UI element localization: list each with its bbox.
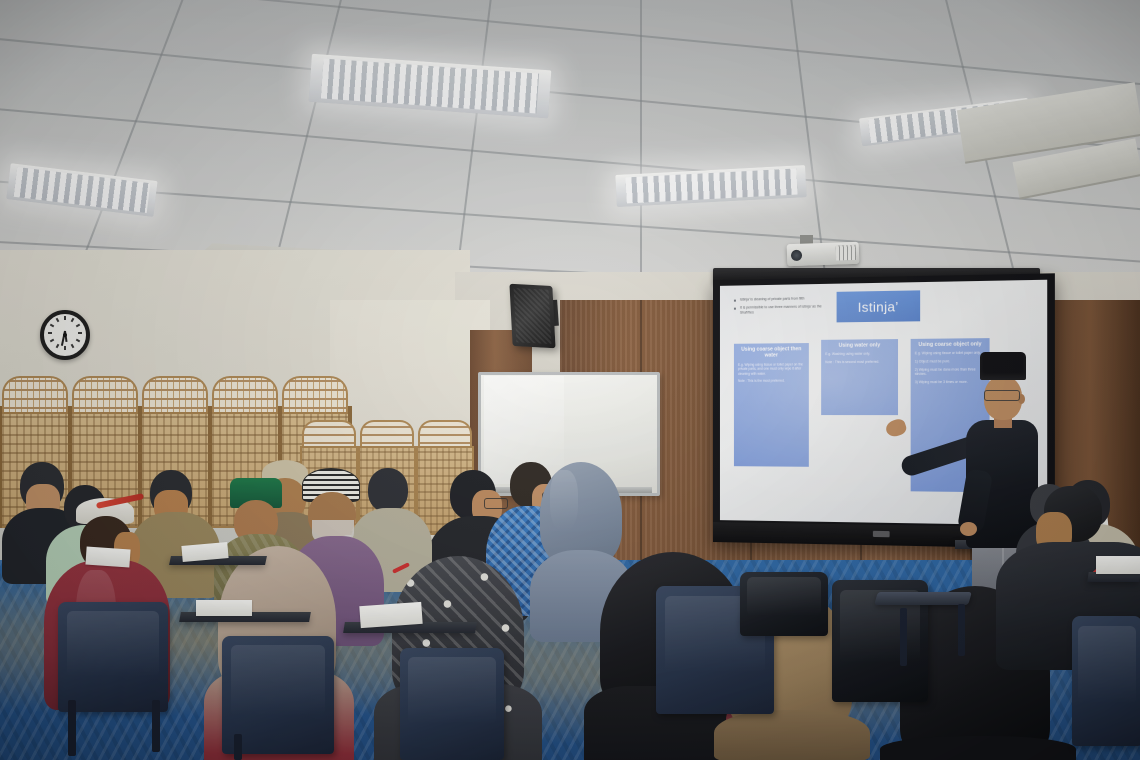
wall-clock	[40, 310, 90, 360]
notes-front	[359, 602, 422, 628]
classroom-photo: Istinja’ is cleaning of private parts fr…	[0, 0, 1140, 760]
notes-far-left	[85, 546, 130, 567]
chair-leg	[68, 700, 76, 756]
chair-leg-5	[958, 604, 965, 656]
pa-speaker	[509, 284, 555, 349]
chair-front-left	[58, 602, 168, 712]
slide-box-1: Using coarse object then water E.g. Wipi…	[734, 343, 809, 467]
slide-bullet-1: It is permissible to use three manners o…	[734, 304, 825, 316]
slide-bullet-list: Istinja’ is cleaning of private parts fr…	[734, 296, 825, 319]
slide-box-1-line-0: E.g. Wiping using tissue or toilet paper…	[738, 362, 805, 376]
slide-box-3-heading: Using coarse object only	[915, 341, 985, 348]
slide-box-2-body: E.g. Washing using water only. Note : Th…	[825, 352, 894, 365]
slide-box-2: Using water only E.g. Washing using wate…	[821, 339, 898, 415]
projector-lens	[791, 250, 802, 261]
chair-mid-row	[400, 648, 504, 760]
tablet-arm-2	[874, 592, 972, 605]
chair-far-right	[1072, 616, 1140, 746]
notes-mid	[196, 600, 252, 616]
presenter-hand	[960, 522, 977, 536]
slide-box-2-heading: Using water only	[825, 342, 894, 349]
slide-box-1-line-1: Note : This is the most preferred.	[738, 379, 805, 384]
presenter-glasses	[984, 390, 1020, 401]
chair-leg-2	[152, 700, 160, 752]
slide-box-1-heading: Using coarse object then water	[738, 346, 805, 359]
slide-box-2-line-0: E.g. Washing using water only.	[825, 352, 894, 357]
chair-empty-2	[740, 572, 828, 636]
projector-vent	[836, 245, 857, 261]
slide-bullet-0: Istinja’ is cleaning of private parts fr…	[734, 296, 825, 303]
ceiling-projector	[787, 242, 860, 266]
chair-leg-4	[900, 608, 907, 666]
notes-right	[1096, 556, 1140, 574]
chair-leg-3	[234, 734, 242, 760]
presenter-songkok	[980, 352, 1026, 380]
slide-box-2-line-1: Note : This is second most preferred.	[825, 360, 894, 365]
slide-title: Istinja’	[837, 290, 921, 322]
slide-box-1-body: E.g. Wiping using tissue or toilet paper…	[738, 362, 805, 384]
